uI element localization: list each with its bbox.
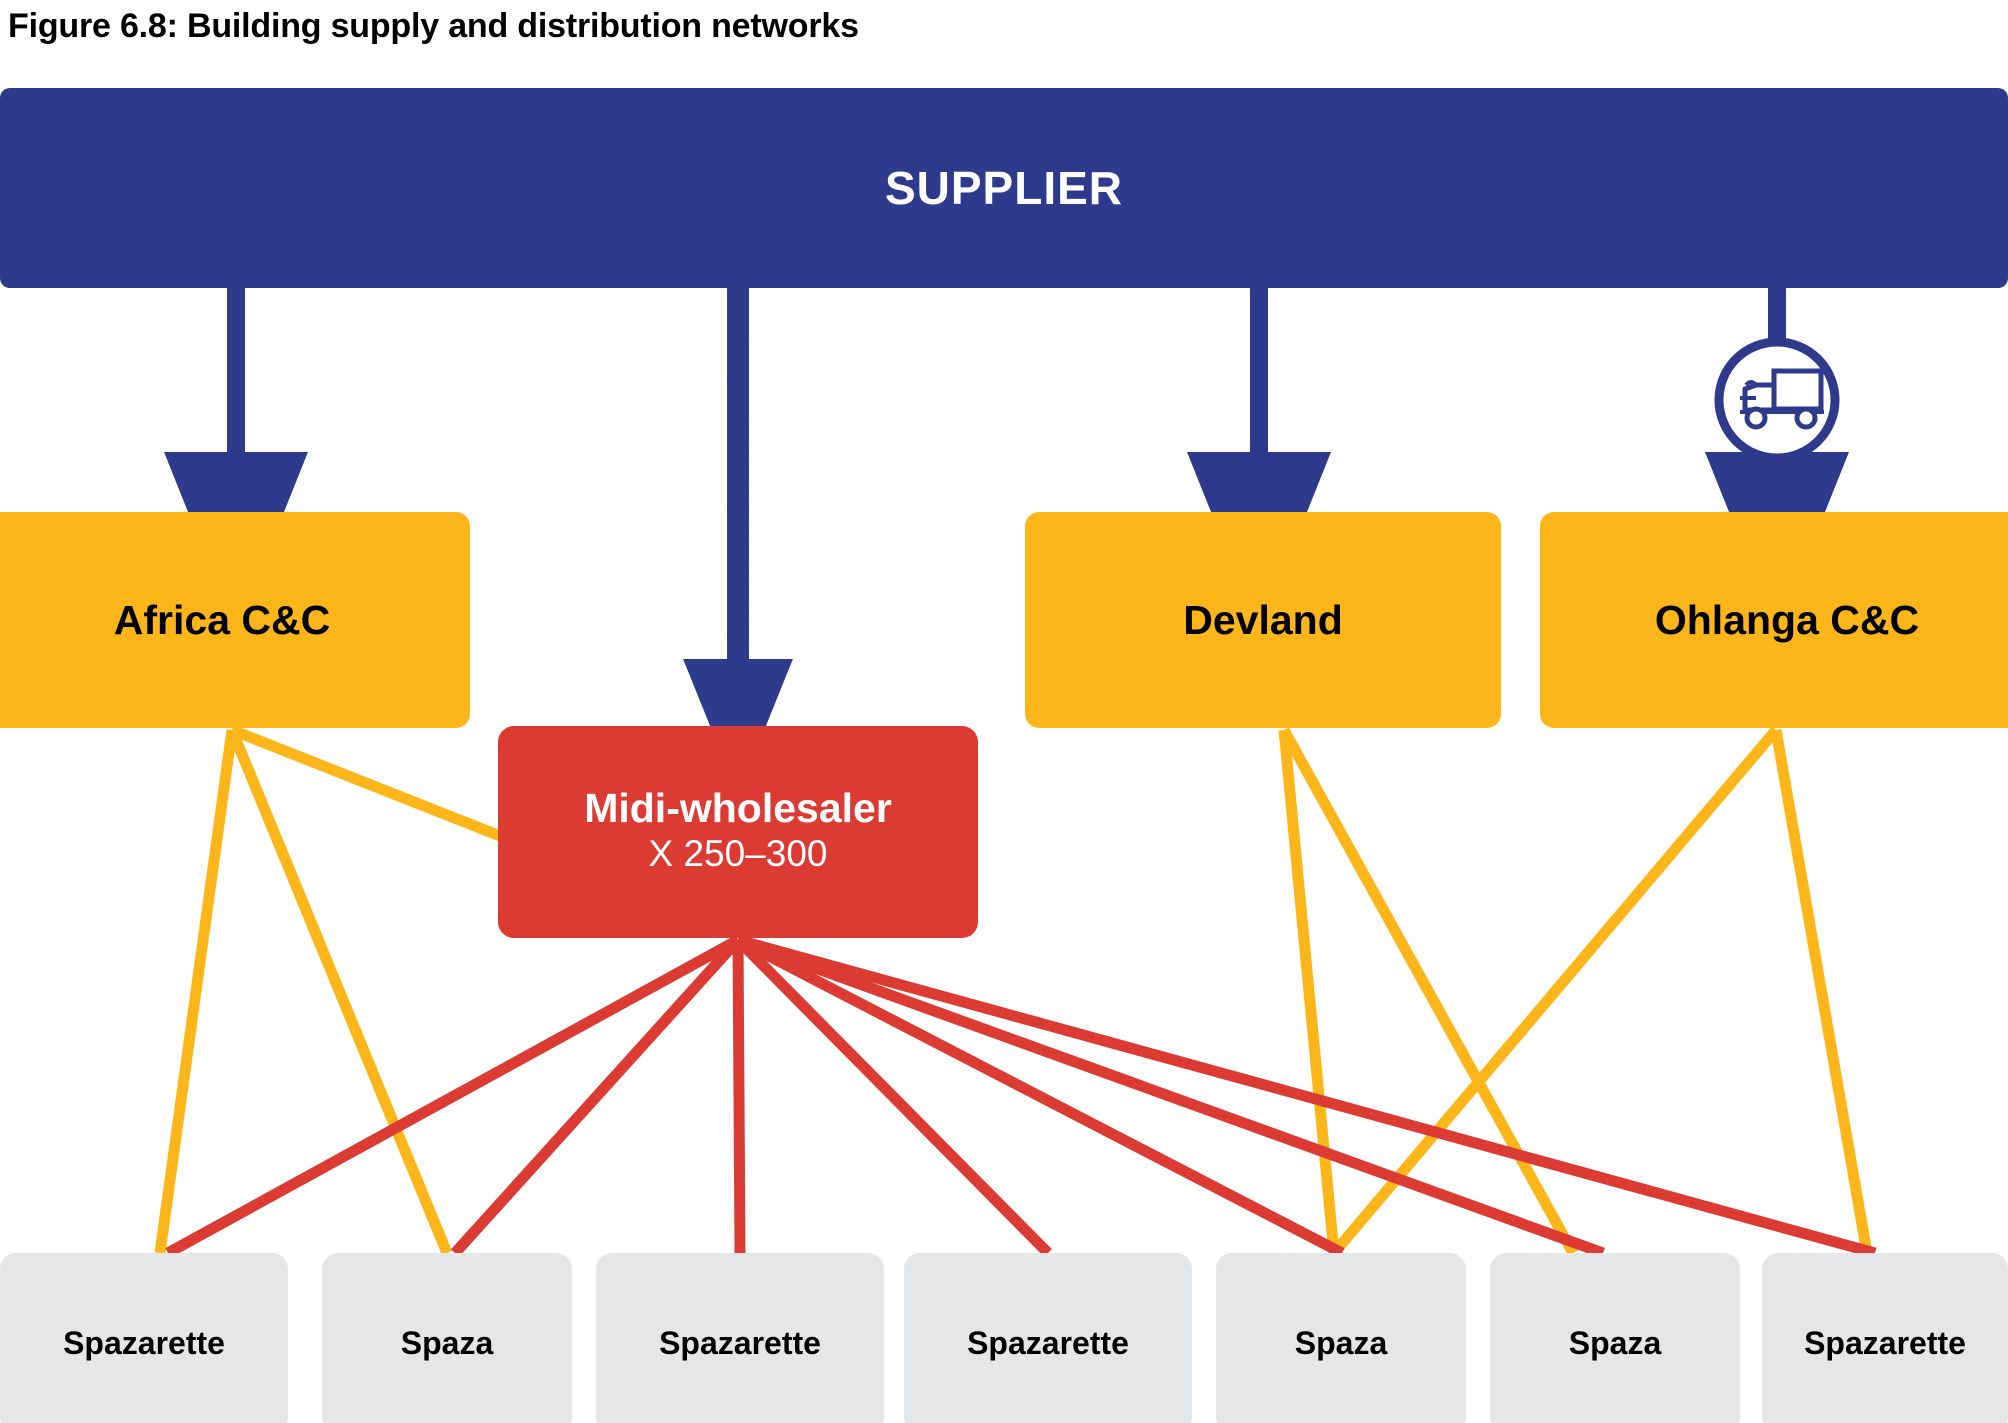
edge-midi-to-shop5 [738,940,1342,1253]
supplier-label: SUPPLIER [885,161,1123,215]
distributor-node-ohlanga[interactable]: Ohlanga C&C [1540,512,2008,728]
shop-node-5[interactable]: Spaza [1216,1253,1466,1423]
shop-label: Spaza [1295,1325,1387,1362]
shop-node-6[interactable]: Spaza [1490,1253,1740,1423]
shop-label: Spazarette [1804,1325,1966,1362]
shop-label: Spazarette [967,1325,1129,1362]
shop-label: Spaza [401,1325,493,1362]
edge-africa-to-shop2 [232,730,447,1253]
shop-label: Spazarette [659,1325,821,1362]
edge-midi-to-shop1 [168,940,738,1253]
shop-label: Spazarette [63,1325,225,1362]
midi-wholesaler-title: Midi-wholesaler [584,787,892,830]
distributor-label: Africa C&C [114,597,330,644]
distributor-node-africa[interactable]: Africa C&C [0,512,470,728]
shop-label: Spaza [1569,1325,1661,1362]
shop-node-1[interactable]: Spazarette [0,1253,288,1423]
shop-node-7[interactable]: Spazarette [1762,1253,2008,1423]
truck-icon [1719,342,1835,458]
edge-africa-to-shop1 [160,730,232,1253]
edge-midi-to-shop3 [738,940,740,1253]
distributor-node-devland[interactable]: Devland [1025,512,1501,728]
edge-ohlanga-to-shop7 [1776,730,1867,1253]
shop-node-4[interactable]: Spazarette [904,1253,1192,1423]
shop-node-2[interactable]: Spaza [322,1253,572,1423]
edge-midi-to-shop2 [455,940,738,1253]
figure-canvas: Figure 6.8: Building supply and distribu… [0,0,2008,1423]
shop-node-3[interactable]: Spazarette [596,1253,884,1423]
distributor-label: Devland [1183,597,1343,644]
distributor-label: Ohlanga C&C [1655,597,1919,644]
supplier-node[interactable]: SUPPLIER [0,88,2008,288]
midi-wholesaler-node[interactable]: Midi-wholesaler X 250–300 [498,726,978,938]
midi-wholesaler-count: X 250–300 [648,832,827,876]
